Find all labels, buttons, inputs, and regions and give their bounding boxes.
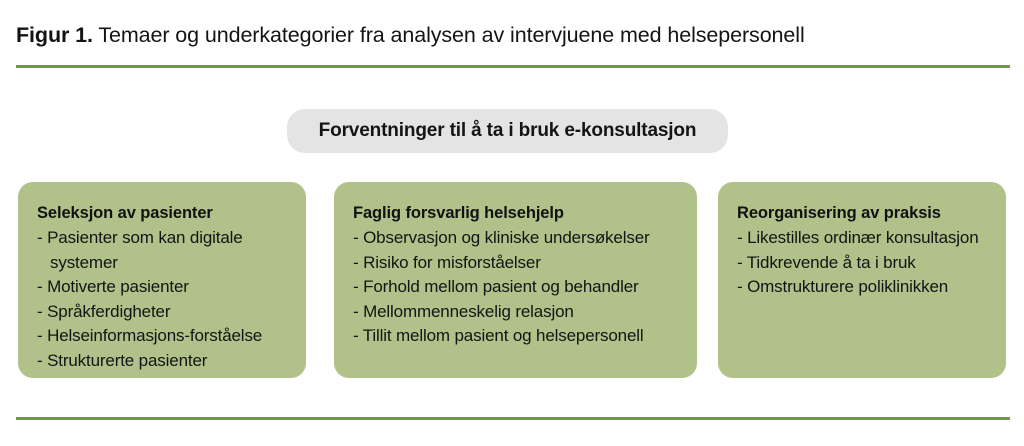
category-heading: Seleksjon av pasienter [37,201,296,225]
theme-header-label: Forventninger til å ta i bruk e-konsulta… [319,120,697,142]
list-item: Likestilles ordinær konsultasjon [737,226,996,251]
list-item: Omstrukturere poliklinikken [737,275,996,300]
divider-top [16,65,1010,68]
category-item-list: Observasjon og kliniske undersøkelser Ri… [353,226,687,349]
divider-bottom [16,417,1010,420]
list-item: Risiko for misforståelser [353,251,687,276]
category-item-list: Likestilles ordinær konsultasjon Tidkrev… [737,226,996,300]
figure-number: Figur 1. [16,23,93,47]
list-item: Språkferdigheter [37,300,296,325]
category-heading: Reorganisering av praksis [737,201,996,225]
theme-header-pill: Forventninger til å ta i bruk e-konsulta… [287,109,728,153]
list-item: Pasienter som kan digitale systemer [37,226,296,275]
category-heading: Faglig forsvarlig helsehjelp [353,201,687,225]
list-item: Mellommenneskelig relasjon [353,300,687,325]
list-item: Tidkrevende å ta i bruk [737,251,996,276]
figure-title: Figur 1. Temaer og underkategorier fra a… [16,20,1006,50]
list-item: Tillit mellom pasient og helsepersonell [353,324,687,349]
category-box-seleksjon-av-pasienter: Seleksjon av pasienter Pasienter som kan… [18,182,306,378]
list-item: Motiverte pasienter [37,275,296,300]
category-item-list: Pasienter som kan digitale systemer Moti… [37,226,296,373]
list-item: Observasjon og kliniske undersøkelser [353,226,687,251]
category-box-reorganisering-av-praksis: Reorganisering av praksis Likestilles or… [718,182,1006,378]
figure-container: Figur 1. Temaer og underkategorier fra a… [0,0,1024,446]
category-box-faglig-forsvarlig-helsehjelp: Faglig forsvarlig helsehjelp Observasjon… [334,182,697,378]
list-item: Strukturerte pasienter [37,349,296,374]
list-item: Helseinformasjons-forståelse [37,324,296,349]
figure-caption: Temaer og underkategorier fra analysen a… [93,23,805,47]
list-item: Forhold mellom pasient og behandler [353,275,687,300]
